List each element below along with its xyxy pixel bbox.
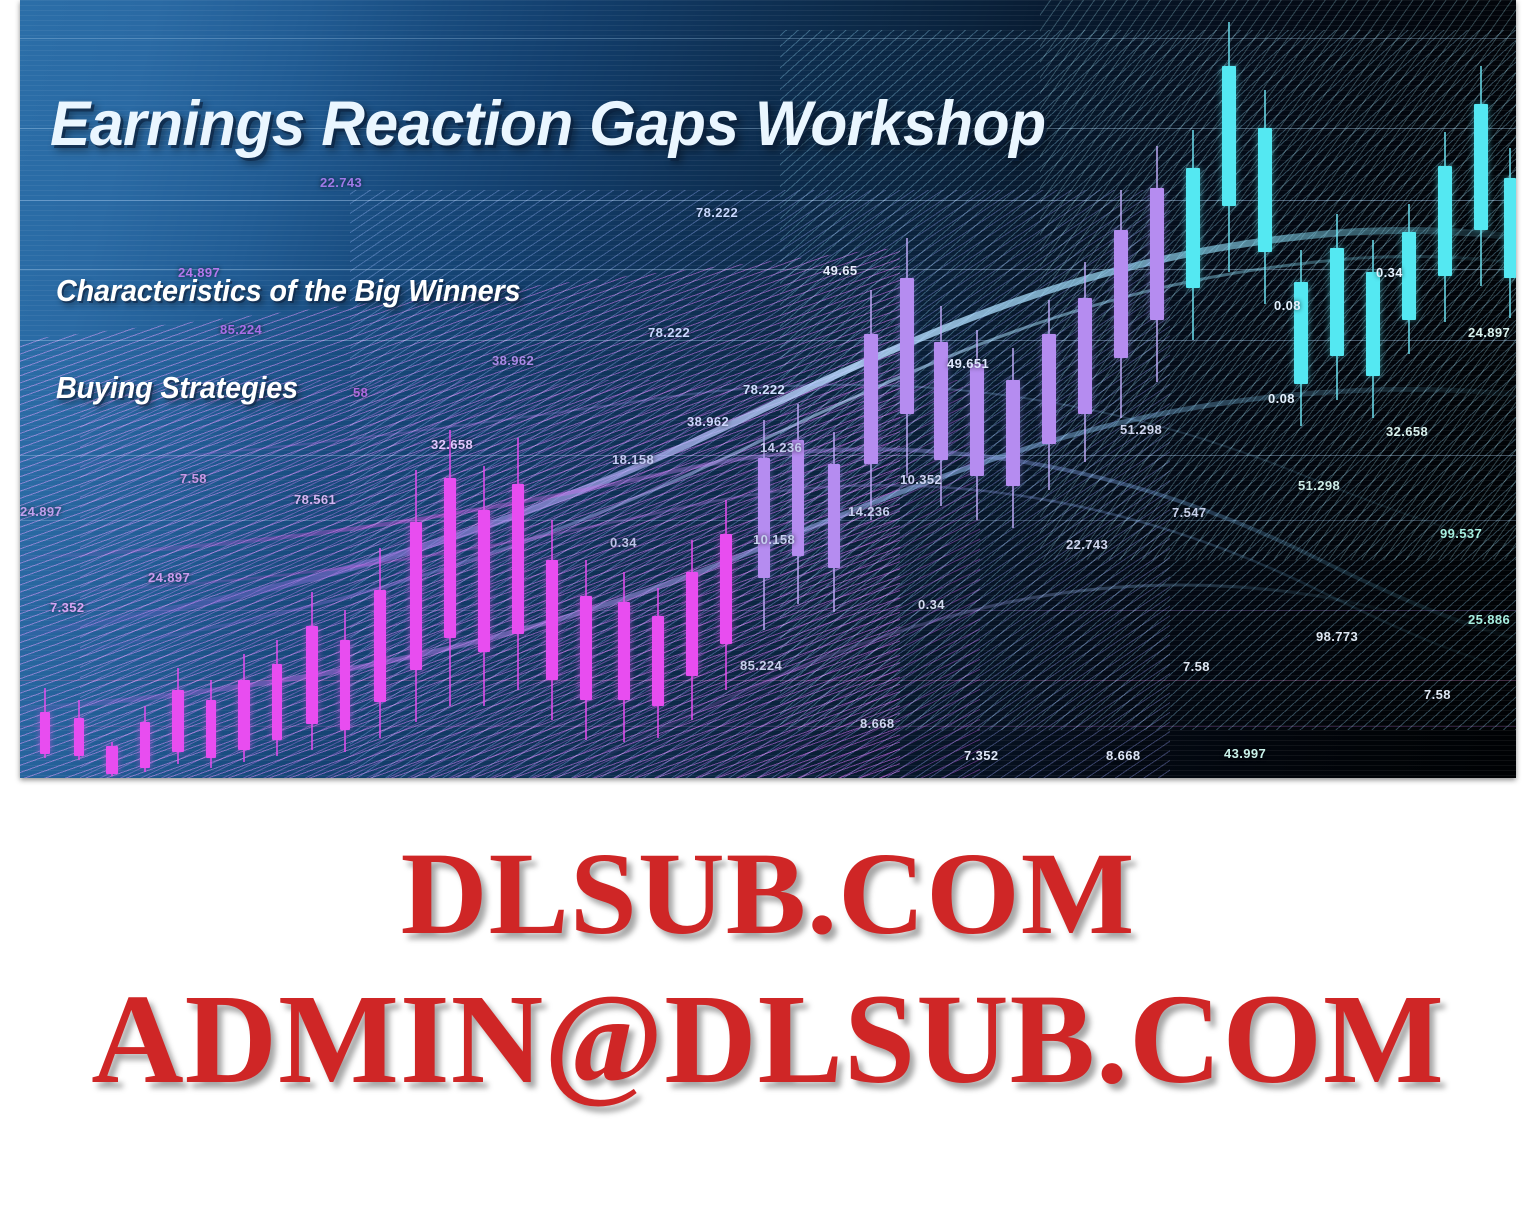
hero-banner: 22.74324.89785.22438.9625878.22278.22249… [20, 0, 1516, 778]
price-label: 98.773 [1316, 629, 1358, 644]
price-label: 0.34 [1376, 265, 1403, 280]
price-label: 38.962 [687, 414, 729, 429]
price-label: 14.236 [848, 504, 890, 519]
price-label: 22.743 [320, 175, 362, 190]
price-label: 18.158 [612, 452, 654, 467]
price-label: 78.561 [294, 492, 336, 507]
price-label: 0.08 [1274, 298, 1301, 313]
price-label: 78.222 [648, 325, 690, 340]
price-label: 10.158 [753, 532, 795, 547]
price-label: 7.352 [50, 600, 85, 615]
price-label: 43.997 [1224, 746, 1266, 761]
price-label: 7.58 [180, 471, 207, 486]
price-label: 25.886 [1468, 612, 1510, 627]
price-label: 58 [353, 385, 368, 400]
price-label: 10.352 [900, 472, 942, 487]
price-label: 24.897 [20, 504, 62, 519]
subtitle-two: Buying Strategies [56, 370, 298, 406]
price-label: 0.34 [610, 535, 637, 550]
price-label: 7.547 [1172, 505, 1207, 520]
price-label: 0.08 [1268, 391, 1295, 406]
price-label: 51.298 [1298, 478, 1340, 493]
price-label: 49.65 [823, 263, 858, 278]
price-label: 85.224 [740, 658, 782, 673]
subtitle-one: Characteristics of the Big Winners [56, 273, 520, 309]
price-label: 7.352 [964, 748, 999, 763]
price-label: 24.897 [1468, 325, 1510, 340]
price-label: 85.224 [220, 322, 262, 337]
page-title: Earnings Reaction Gaps Workshop [50, 88, 1046, 160]
banner-artwork: 22.74324.89785.22438.9625878.22278.22249… [20, 0, 1516, 778]
price-label: 38.962 [492, 353, 534, 368]
price-label: 14.236 [760, 440, 802, 455]
price-label: 99.537 [1440, 526, 1482, 541]
price-label: 49.651 [947, 356, 989, 371]
price-label: 8.668 [1106, 748, 1141, 763]
watermark-email: ADMIN@DLSUB.COM [0, 966, 1536, 1113]
price-label: 7.58 [1424, 687, 1451, 702]
price-label: 78.222 [743, 382, 785, 397]
price-label: 51.298 [1120, 422, 1162, 437]
price-label: 32.658 [431, 437, 473, 452]
watermark-site: DLSUB.COM [0, 826, 1536, 962]
price-label: 22.743 [1066, 537, 1108, 552]
price-label: 32.658 [1386, 424, 1428, 439]
price-label: 8.668 [860, 716, 895, 731]
price-label: 0.34 [918, 597, 945, 612]
price-label: 7.58 [1183, 659, 1210, 674]
price-label: 24.897 [148, 570, 190, 585]
price-label: 78.222 [696, 205, 738, 220]
